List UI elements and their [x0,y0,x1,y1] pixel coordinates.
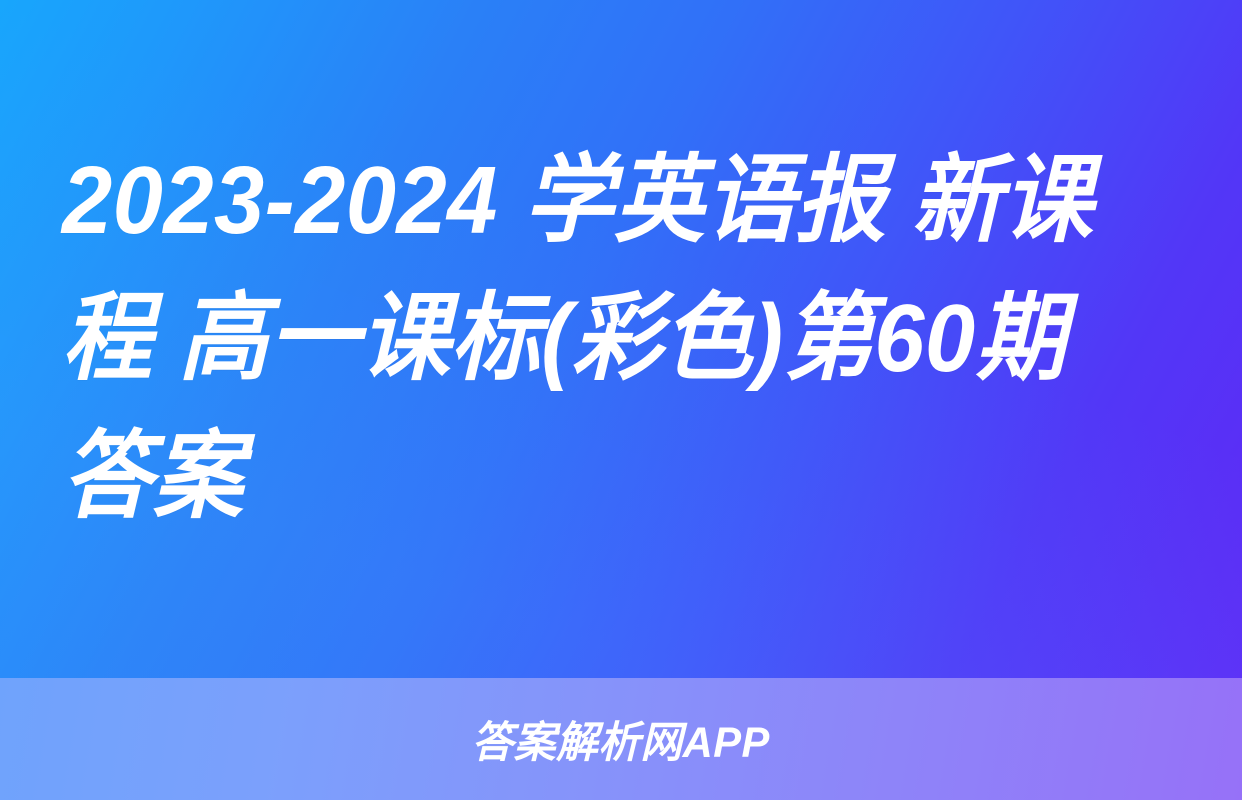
watermark-site-name: 答案解析网 [472,719,683,767]
watermark-banner: 答案解析网APP [0,678,1242,800]
title-card: 2023-2024 学英语报 新课程 高一课标(彩色)第60期答案 答案解析网A… [0,0,1242,800]
page-title: 2023-2024 学英语报 新课程 高一课标(彩色)第60期答案 [62,132,1113,547]
app-watermark: 答案解析网APP [472,708,770,770]
title-container: 2023-2024 学英语报 新课程 高一课标(彩色)第60期答案 [0,0,1242,678]
watermark-app-suffix: APP [683,719,770,767]
